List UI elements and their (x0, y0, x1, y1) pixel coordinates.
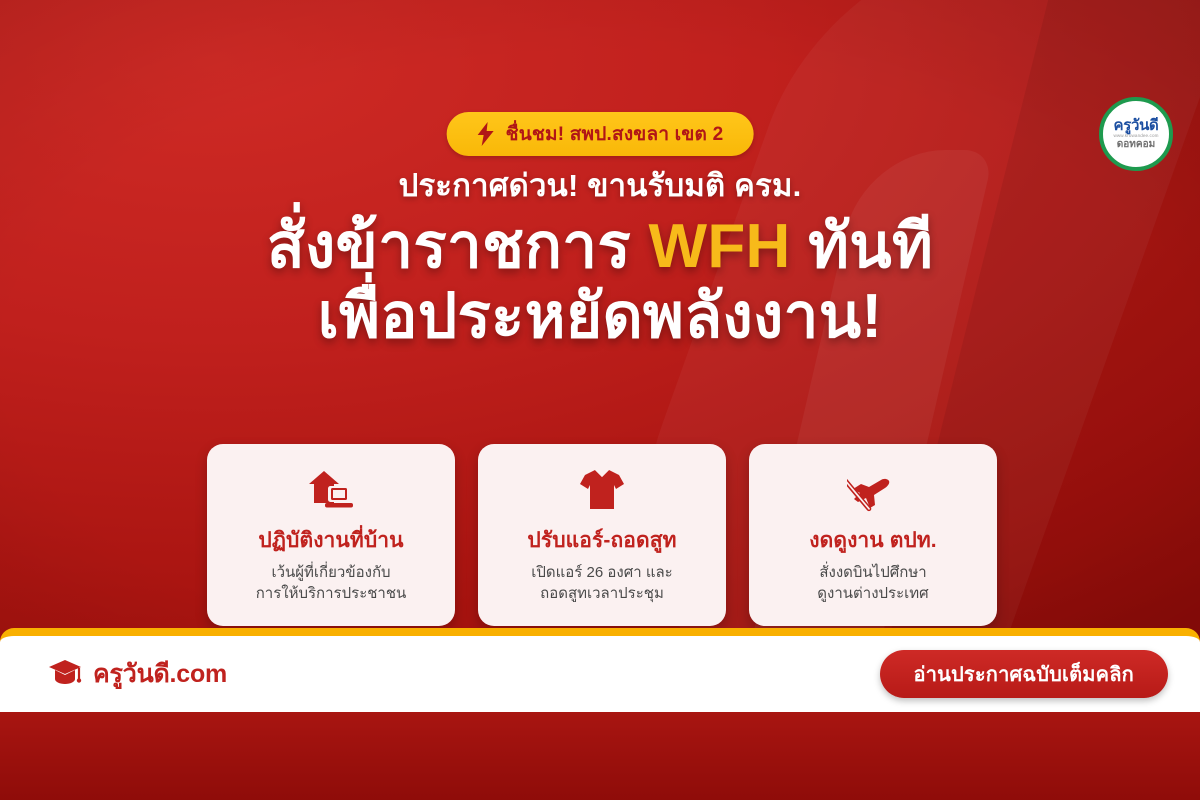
no-airplane-icon (847, 466, 899, 514)
brand-badge-suffix: ดอทคอม (1117, 140, 1155, 150)
measure-card[interactable]: ปฏิบัติงานที่บ้าน เว้นผู้ที่เกี่ยวข้องกั… (207, 444, 455, 626)
announcement-pill-text: ชื่นชม! สพป.สงขลา เขต 2 (506, 119, 724, 149)
brand-badge[interactable]: ครูวันดี www.kruwandee.com ดอทคอม (1099, 97, 1173, 171)
headline-line-1: สั่งข้าราชการ WFH ทันที (0, 212, 1200, 283)
measure-card-desc-line-2: ดูงานต่างประเทศ (817, 583, 928, 604)
measure-card-list: ปฏิบัติงานที่บ้าน เว้นผู้ที่เกี่ยวข้องกั… (207, 444, 997, 626)
headline-line-1-before: สั่งข้าราชการ (267, 212, 649, 281)
tshirt-icon (578, 466, 626, 514)
measure-card-desc-line-1: เว้นผู้ที่เกี่ยวข้องกับ (256, 562, 407, 583)
house-laptop-icon (305, 466, 357, 514)
measure-card-title: งดดูงาน ตปท. (809, 524, 937, 557)
measure-card-desc-line-2: ถอดสูทเวลาประชุม (531, 583, 673, 604)
measure-card-title: ปรับแอร์-ถอดสูท (527, 524, 676, 557)
read-full-announcement-button[interactable]: อ่านประกาศฉบับเต็มคลิก (880, 650, 1169, 698)
footer-brand-text: ครูวันดี.com (93, 654, 227, 694)
brand-badge-name: ครูวันดี (1113, 118, 1158, 133)
measure-card-desc-line-2: การให้บริการประชาชน (256, 583, 407, 604)
footer-base-strip (0, 712, 1200, 800)
headline-line-1-after: ทันที (791, 212, 934, 281)
measure-card-desc: สั่งงดบินไปศึกษา ดูงานต่างประเทศ (817, 562, 928, 605)
headline-block: ประกาศด่วน! ขานรับมติ ครม. สั่งข้าราชการ… (0, 168, 1200, 353)
poster-canvas: ครูวันดี www.kruwandee.com ดอทคอม ชื่นชม… (0, 0, 1200, 800)
measure-card-desc-line-1: สั่งงดบินไปศึกษา (817, 562, 928, 583)
headline-line-2: เพื่อประหยัดพลังงาน! (0, 282, 1200, 353)
measure-card-desc: เว้นผู้ที่เกี่ยวข้องกับ การให้บริการประช… (256, 562, 407, 605)
announcement-pill: ชื่นชม! สพป.สงขลา เขต 2 (447, 112, 754, 156)
footer-bar: ครูวันดี.com อ่านประกาศฉบับเต็มคลิก (0, 628, 1200, 712)
footer-brand[interactable]: ครูวันดี.com (48, 654, 227, 694)
lightning-bolt-icon (477, 122, 495, 146)
measure-card-title: ปฏิบัติงานที่บ้าน (258, 524, 403, 557)
measure-card[interactable]: งดดูงาน ตปท. สั่งงดบินไปศึกษา ดูงานต่างป… (749, 444, 997, 626)
headline-accent-wfh: WFH (649, 212, 791, 281)
measure-card-desc: เปิดแอร์ 26 องศา และ ถอดสูทเวลาประชุม (531, 562, 673, 605)
graduation-cap-icon (48, 658, 82, 690)
measure-card-desc-line-1: เปิดแอร์ 26 องศา และ (531, 562, 673, 583)
headline-kicker: ประกาศด่วน! ขานรับมติ ครม. (0, 168, 1200, 204)
measure-card[interactable]: ปรับแอร์-ถอดสูท เปิดแอร์ 26 องศา และ ถอด… (478, 444, 726, 626)
